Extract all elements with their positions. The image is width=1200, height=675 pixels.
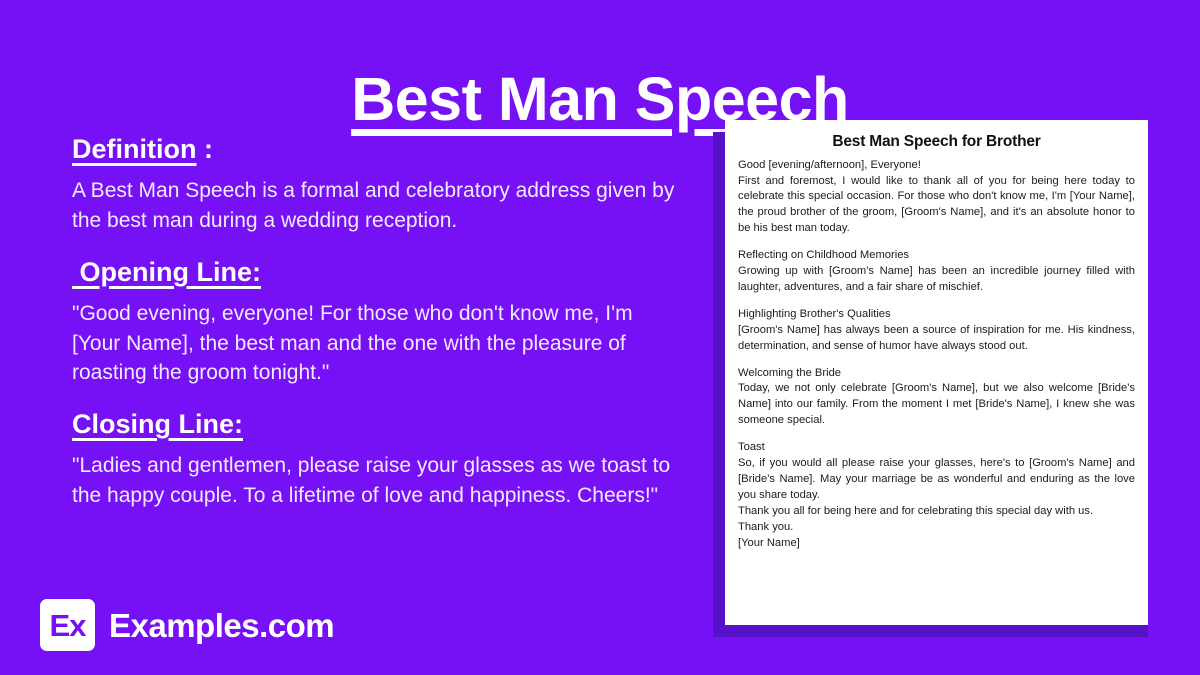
closing-line-heading-label: Closing Line: bbox=[72, 409, 243, 439]
definition-heading-label: Definition bbox=[72, 134, 196, 164]
speech-intro-body: First and foremost, I would like to than… bbox=[738, 174, 1135, 238]
left-content-column: Definition : A Best Man Speech is a form… bbox=[72, 134, 680, 532]
speech-block-greeting: Good [evening/afternoon], Everyone! Firs… bbox=[738, 158, 1135, 238]
speech-thanks-short: Thank you. bbox=[738, 520, 1135, 536]
speech-block-childhood: Reflecting on Childhood Memories Growing… bbox=[738, 248, 1135, 296]
speech-salutation: Good [evening/afternoon], Everyone! bbox=[738, 158, 1135, 174]
closing-line-body: "Ladies and gentlemen, please raise your… bbox=[72, 451, 680, 511]
speech-section-heading: Toast bbox=[738, 440, 1135, 456]
speech-toast-body: So, if you would all please raise your g… bbox=[738, 456, 1135, 504]
speech-block-bride: Welcoming the Bride Today, we not only c… bbox=[738, 366, 1135, 430]
speech-section-body: Today, we not only celebrate [Groom's Na… bbox=[738, 381, 1135, 429]
opening-line-body: "Good evening, everyone! For those who d… bbox=[72, 299, 680, 388]
brand-logo[interactable]: Ex Examples.com bbox=[40, 599, 334, 651]
speech-block-toast: Toast So, if you would all please raise … bbox=[738, 440, 1135, 551]
definition-heading-suffix: : bbox=[196, 134, 213, 164]
examples-logo-icon: Ex bbox=[40, 599, 95, 651]
speech-section-body: Growing up with [Groom's Name] has been … bbox=[738, 264, 1135, 296]
definition-heading: Definition : bbox=[72, 134, 680, 165]
speech-thanks-body: Thank you all for being here and for cel… bbox=[738, 504, 1135, 520]
speech-section-heading: Highlighting Brother's Qualities bbox=[738, 307, 1135, 323]
brand-name: Examples.com bbox=[109, 609, 334, 642]
speech-signature: [Your Name] bbox=[738, 536, 1135, 552]
speech-section-heading: Reflecting on Childhood Memories bbox=[738, 248, 1135, 264]
closing-line-heading: Closing Line: bbox=[72, 409, 680, 440]
speech-card: Best Man Speech for Brother Good [evenin… bbox=[725, 120, 1148, 625]
slide-root: { "theme": { "background": "#7610f5", "a… bbox=[0, 0, 1200, 675]
speech-block-qualities: Highlighting Brother's Qualities [Groom'… bbox=[738, 307, 1135, 355]
opening-line-heading: Opening Line: bbox=[72, 257, 680, 288]
opening-line-heading-label: Opening Line: bbox=[72, 257, 261, 287]
speech-section-heading: Welcoming the Bride bbox=[738, 366, 1135, 382]
speech-card-title: Best Man Speech for Brother bbox=[738, 133, 1135, 152]
definition-body: A Best Man Speech is a formal and celebr… bbox=[72, 176, 680, 236]
speech-section-body: [Groom's Name] has always been a source … bbox=[738, 323, 1135, 355]
